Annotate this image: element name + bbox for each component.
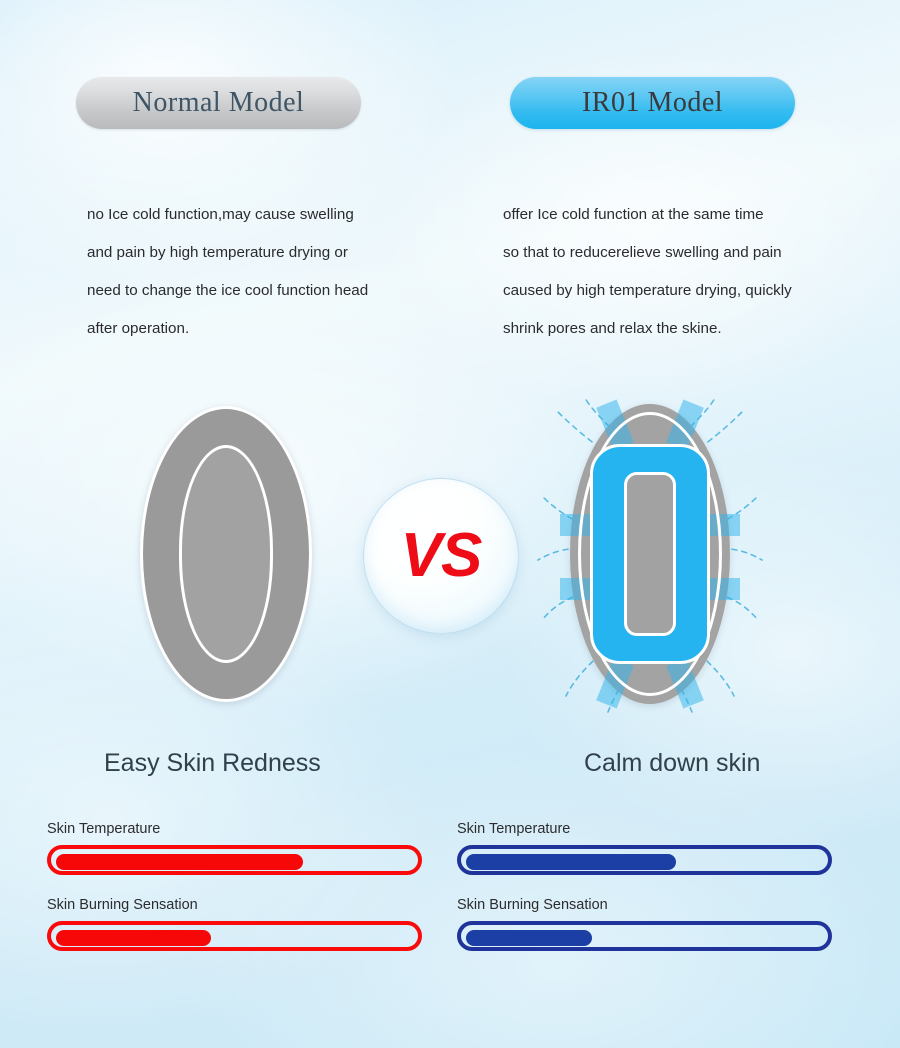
gray-device-outer-shell xyxy=(140,406,312,702)
description-line: no Ice cold function,may cause swelling xyxy=(87,196,368,234)
meter-fill xyxy=(56,854,303,870)
comparison-infographic: Normal Model IR01 Model no Ice cold func… xyxy=(0,0,900,1048)
description-line: after operation. xyxy=(87,310,368,348)
gray-device-inner-panel xyxy=(179,445,273,663)
description-ir01-model: offer Ice cold function at the same time… xyxy=(503,196,792,348)
description-line: need to change the ice cool function hea… xyxy=(87,272,368,310)
vs-label: VS xyxy=(401,525,482,587)
meter-label: Skin Burning Sensation xyxy=(457,897,832,913)
blue-cooling-device-icon xyxy=(546,396,754,712)
meter-track xyxy=(47,845,422,875)
description-line: caused by high temperature drying, quick… xyxy=(503,272,792,310)
meter-skin-burning-left: Skin Burning Sensation xyxy=(47,897,422,951)
description-line: offer Ice cold function at the same time xyxy=(503,196,792,234)
description-line: so that to reducerelieve swelling and pa… xyxy=(503,234,792,272)
caption-ir01-model: Calm down skin xyxy=(584,749,760,778)
meter-fill xyxy=(466,930,592,946)
description-normal-model: no Ice cold function,may cause swelling … xyxy=(87,196,368,348)
meter-label: Skin Temperature xyxy=(457,821,832,837)
meter-label: Skin Temperature xyxy=(47,821,422,837)
caption-normal-model: Easy Skin Redness xyxy=(104,749,321,778)
meter-track xyxy=(457,845,832,875)
blue-device-inner-panel xyxy=(624,472,676,636)
meter-track xyxy=(457,921,832,951)
header-pill-ir01-model: IR01 Model xyxy=(510,77,795,129)
meter-skin-burning-right: Skin Burning Sensation xyxy=(457,897,832,951)
meter-track xyxy=(47,921,422,951)
vs-badge-icon: VS xyxy=(363,478,519,634)
description-line: shrink pores and relax the skine. xyxy=(503,310,792,348)
header-label-ir01-model: IR01 Model xyxy=(582,87,723,119)
meter-fill xyxy=(466,854,676,870)
header-label-normal-model: Normal Model xyxy=(133,87,305,119)
meters-normal-model: Skin Temperature Skin Burning Sensation xyxy=(47,821,422,973)
meters-ir01-model: Skin Temperature Skin Burning Sensation xyxy=(457,821,832,973)
header-pill-normal-model: Normal Model xyxy=(76,77,361,129)
meter-label: Skin Burning Sensation xyxy=(47,897,422,913)
meter-fill xyxy=(56,930,211,946)
meter-skin-temperature-left: Skin Temperature xyxy=(47,821,422,875)
meter-skin-temperature-right: Skin Temperature xyxy=(457,821,832,875)
description-line: and pain by high temperature drying or xyxy=(87,234,368,272)
gray-device-icon xyxy=(140,406,312,702)
